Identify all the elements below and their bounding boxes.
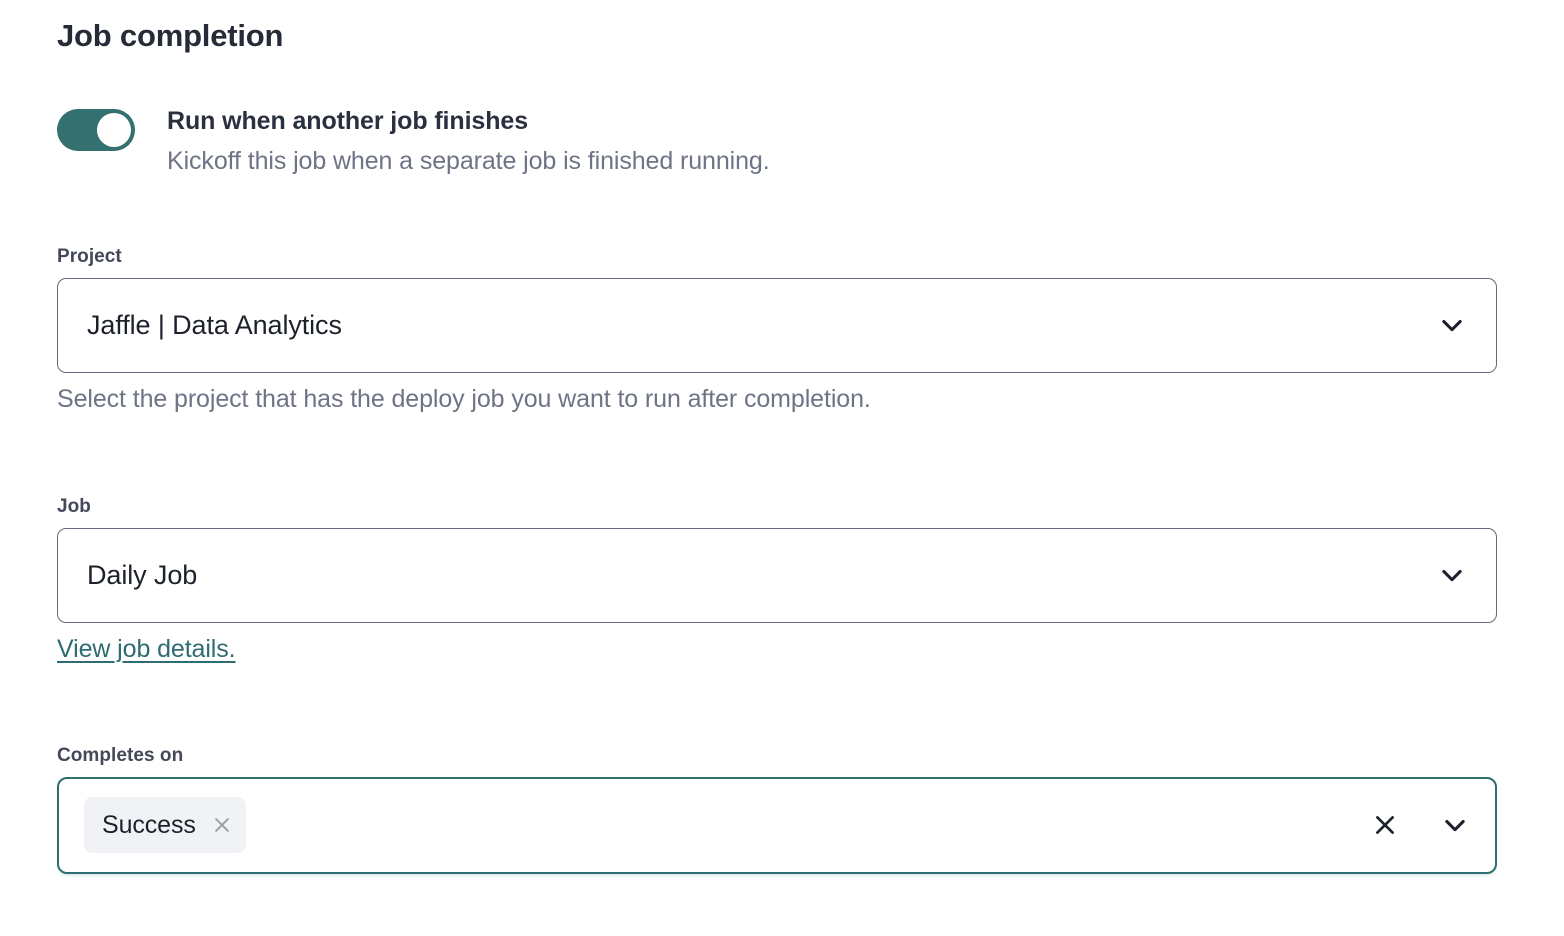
project-selected-value: Jaffle | Data Analytics — [58, 309, 342, 341]
view-job-details-link[interactable]: View job details. — [57, 635, 236, 664]
chip-label: Success — [102, 813, 196, 838]
job-label: Job — [57, 496, 1497, 519]
chevron-down-icon[interactable] — [1438, 311, 1466, 339]
project-help-text: Select the project that has the deploy j… — [57, 384, 1497, 415]
completes-on-multiselect[interactable]: Success — [57, 777, 1497, 874]
chip-success[interactable]: Success — [84, 797, 246, 853]
multiselect-actions — [1371, 811, 1469, 839]
page-title: Job completion — [57, 17, 283, 54]
run-when-another-job-finishes-toggle[interactable] — [57, 109, 135, 151]
toggle-knob — [97, 113, 131, 147]
toggle-text-block: Run when another job finishes Kickoff th… — [167, 105, 1467, 177]
completes-on-label: Completes on — [57, 745, 1497, 768]
chevron-down-icon[interactable] — [1438, 561, 1466, 589]
project-label: Project — [57, 246, 1497, 269]
toggle-label: Run when another job finishes — [167, 105, 1467, 138]
close-icon[interactable] — [1371, 811, 1399, 839]
completes-on-field-group: Completes on Success — [57, 745, 1497, 874]
selected-chips-container: Success — [59, 797, 246, 853]
job-select[interactable]: Daily Job — [57, 528, 1497, 623]
toggle-description: Kickoff this job when a separate job is … — [167, 145, 1467, 178]
project-select[interactable]: Jaffle | Data Analytics — [57, 278, 1497, 373]
job-completion-settings-panel: Job completion Run when another job fini… — [0, 0, 1564, 936]
close-icon[interactable] — [211, 814, 233, 836]
chevron-down-icon[interactable] — [1441, 811, 1469, 839]
job-selected-value: Daily Job — [58, 559, 197, 591]
project-field-group: Project Jaffle | Data Analytics Select t… — [57, 246, 1497, 415]
job-field-group: Job Daily Job View job details. — [57, 496, 1497, 664]
